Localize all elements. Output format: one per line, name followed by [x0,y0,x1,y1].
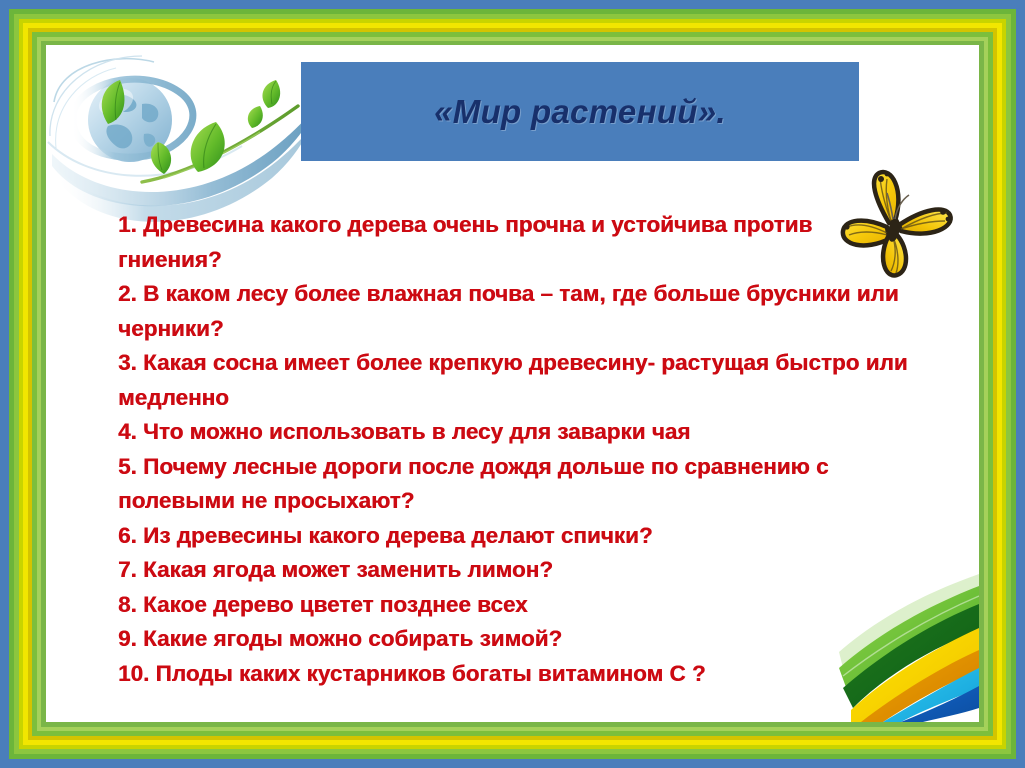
question-item: 10. Плоды каких кустарников богаты витам… [118,657,908,692]
question-item: 3. Какая сосна имеет более крепкую древе… [118,346,908,415]
page-title: «Мир растений». [434,93,726,131]
question-item: 5. Почему лесные дороги после дождя доль… [118,450,908,519]
question-item: 7. Какая ягода может заменить лимон? [118,553,908,588]
question-item: 6. Из древесины какого дерева делают спи… [118,519,908,554]
presentation-slide: «Мир растений». [0,0,1025,768]
question-item: 1. Древесина какого дерева очень прочна … [118,208,908,277]
slide-content-area: «Мир растений». [46,45,979,722]
slide-title-banner: «Мир растений». [301,62,859,161]
question-item: 8. Какое дерево цветет позднее всех [118,588,908,623]
question-item: 4. Что можно использовать в лесу для зав… [118,415,908,450]
ribbon-decoration-icon [839,552,979,722]
question-list: 1. Древесина какого дерева очень прочна … [118,208,908,691]
eco-globe-leaves-icon [46,50,336,230]
question-item: 9. Какие ягоды можно собирать зимой? [118,622,908,657]
question-item: 2. В каком лесу более влажная почва – та… [118,277,908,346]
